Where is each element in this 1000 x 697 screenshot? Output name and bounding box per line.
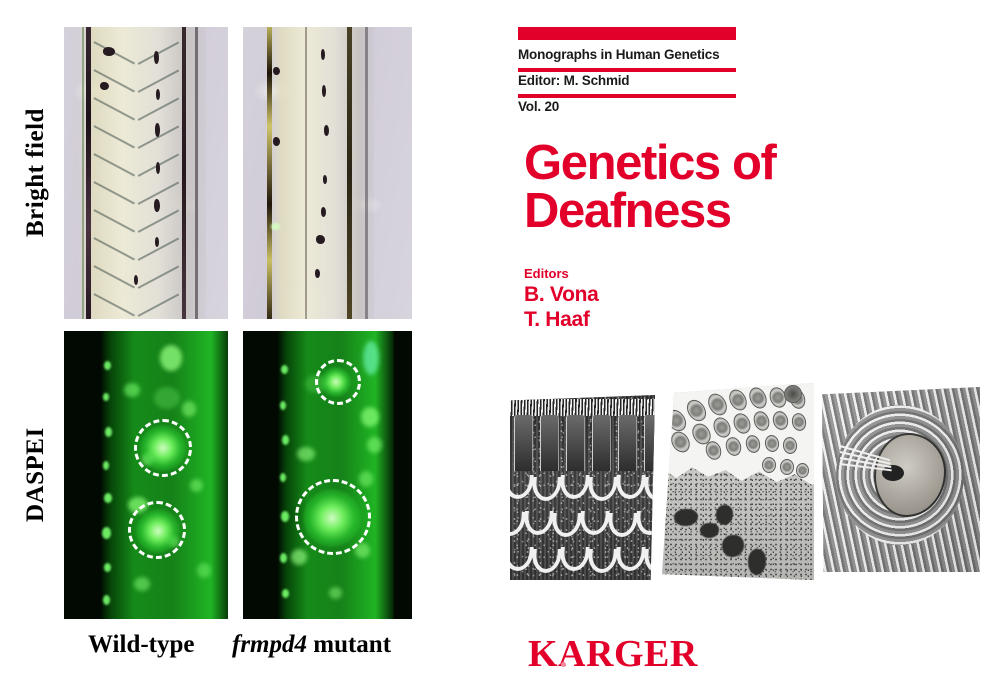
gene-name: frmpd4 [232, 631, 307, 658]
editor-name-1: B. Vona [524, 283, 599, 307]
editor-name-2: T. Haaf [524, 308, 590, 332]
pigment-stripe [365, 27, 368, 319]
series-rule-bottom [518, 94, 736, 98]
book-title-line-2: Deafness [524, 187, 824, 235]
pigment-stripe [195, 27, 198, 319]
trunk-band [269, 27, 374, 319]
pigment-stripe [267, 27, 272, 319]
stereocilia-row [510, 511, 655, 537]
pigment-stripe [347, 27, 352, 319]
book-title: Genetics of Deafness [524, 139, 824, 235]
bright-speck [271, 223, 280, 230]
mutant-suffix: mutant [313, 631, 391, 658]
book-title-line-1: Genetics of [524, 139, 824, 187]
karger-logo-dot [561, 662, 566, 667]
em-image-stereocilia-cross-section [662, 383, 814, 580]
lighting-overlay [822, 387, 980, 572]
em-image-hair-cell-rows [510, 395, 655, 580]
editors-heading: Editors [524, 266, 569, 281]
series-name: Monographs in Human Genetics [518, 47, 719, 62]
highlight-circle [295, 479, 371, 555]
series-rule-middle [518, 68, 736, 72]
panel-daspei-frmpd4-mutant [243, 331, 412, 619]
panel-bright-field-wild-type [64, 27, 228, 319]
pigment-stripe [82, 27, 84, 319]
pigment-stripe [86, 27, 91, 319]
cover-page: Bright field DASPEI [0, 0, 1000, 697]
pigment-stripe [182, 27, 186, 319]
row-label-bright-field: Bright field [22, 28, 50, 318]
panel-daspei-wild-type [64, 331, 228, 619]
stereocilia-row [510, 475, 655, 501]
pigment-stripe [305, 27, 307, 319]
figure-panel: Bright field DASPEI [0, 0, 450, 697]
publisher-logo: KARGER [528, 632, 698, 676]
row-label-daspei: DASPEI [22, 332, 50, 618]
highlight-circle [134, 419, 192, 477]
electron-micrograph-montage [462, 375, 996, 580]
volume-number: Vol. 20 [518, 99, 559, 114]
panel-bright-field-frmpd4-mutant [243, 27, 412, 319]
highlight-circle [315, 359, 361, 405]
book-cover-panel: Monographs in Human Genetics Editor: M. … [450, 0, 1000, 697]
column-label-frmpd4-mutant: frmpd4 mutant [232, 631, 391, 659]
series-rule-top [518, 27, 736, 40]
stereocilia-row [510, 547, 655, 573]
cilia-fringe [510, 399, 655, 416]
series-editor: Editor: M. Schmid [518, 73, 629, 88]
column-label-wild-type: Wild-type [88, 631, 195, 659]
highlight-circle [128, 501, 186, 559]
em-image-sensory-epithelium-surface [822, 387, 980, 572]
